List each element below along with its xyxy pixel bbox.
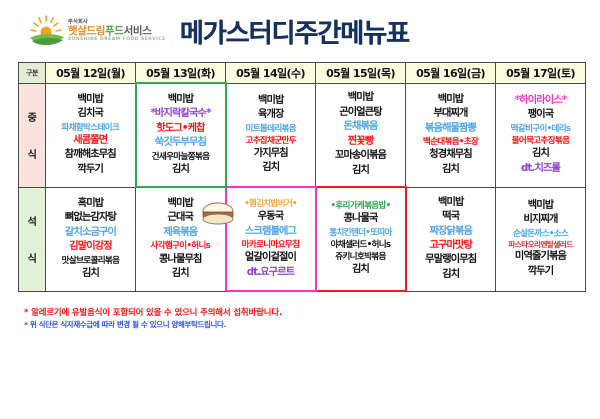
- row-label-bottom: 식: [19, 250, 45, 265]
- dish-item: 가지무침: [254, 147, 288, 161]
- dish-list: 백미밥육개장미트볼데리볶음고추잡채군만두가지무침김치: [227, 84, 316, 187]
- row-label-top: 석: [19, 213, 45, 228]
- dish-item: 비지찌개: [523, 213, 557, 227]
- dish-item: 뼈없는감자탕: [65, 211, 116, 225]
- dish-item: 백미밥: [258, 94, 284, 108]
- dish-item: 떡국: [442, 210, 459, 224]
- dish-item: 깍두기: [77, 163, 103, 177]
- dish-item: 김치: [262, 161, 279, 175]
- dish-item: 갈치소금구이: [65, 226, 116, 240]
- dish-item: 팽이국: [528, 108, 554, 122]
- logo-name-part2: 푸드: [105, 25, 124, 37]
- menu-row-석식: 석식흑미밥뼈없는감자탕갈치소금구이김말이강정맛살브로콜리볶음김치백미밥근대국제육…: [19, 187, 586, 291]
- dish-item: 참깨해초무침: [65, 148, 116, 162]
- dish-item: 미트볼데리볶음: [246, 123, 296, 135]
- dish-item: 건새우마늘쫑볶음: [152, 151, 210, 163]
- menu-cell-석식-4: 백미밥떡국짜장닭볶음고구마맛탕무말랭이무침김치: [406, 187, 496, 291]
- sunrise-leaf-icon: [28, 14, 68, 48]
- dish-item: 사각햄구이•허니s: [150, 240, 210, 252]
- dish-item: 돈채볶음: [343, 120, 377, 134]
- dish-item: 김치: [442, 268, 459, 282]
- column-header-date-1: 05월 13일(화): [136, 63, 226, 84]
- menu-cell-중식-0: 백미밥김치국파채함박스테이크새콤쫄면참깨해초무침깍두기: [46, 83, 136, 187]
- dish-item: 순살돈까스•소스: [513, 228, 568, 240]
- dish-list: 백미밥비지찌개순살돈까스•소스파스타오리엔탈샐러드미역줄기볶음깍두기: [496, 188, 585, 291]
- dish-item: 쥬키니호박볶음: [335, 251, 385, 263]
- dish-item: 미역줄기볶음: [515, 250, 566, 264]
- dish-item: 맛살브로콜리볶음: [62, 255, 120, 267]
- dish-item: *하이라이스*: [515, 94, 567, 108]
- dish-item: 김치국: [77, 107, 103, 121]
- logo-name-part3: 서비스: [124, 25, 152, 37]
- logo-company-english: SUNSHINE DREAM FOOD SERVICE: [68, 38, 166, 42]
- dish-item: •후리가케볶음밥•: [330, 200, 390, 212]
- menu-cell-석식-5: 백미밥비지찌개순살돈까스•소스파스타오리엔탈샐러드미역줄기볶음깍두기: [496, 187, 586, 291]
- dish-item: 김치: [532, 147, 549, 161]
- company-logo: 주식회사 햇살드림푸드서비스 SUNSHINE DREAM FOOD SERVI…: [28, 14, 166, 48]
- dish-list: 흑미밥뼈없는감자탕갈치소금구이김말이강정맛살브로콜리볶음김치: [46, 188, 135, 291]
- dish-item: 백미밥: [77, 93, 103, 107]
- dish-item: 찐꽃빵: [348, 135, 374, 149]
- dish-item: 야채샐러드•허니s: [331, 239, 391, 251]
- column-header-date-5: 05월 17일(토): [496, 63, 586, 84]
- dish-item: 부대찌개: [433, 107, 467, 121]
- dish-item: 제육볶음: [163, 226, 197, 240]
- column-header-date-4: 05월 16일(금): [406, 63, 496, 84]
- dish-item: 김치: [352, 164, 369, 178]
- dish-list: 백미밥근대국제육볶음사각햄구이•허니s콩나물무침김치: [136, 188, 225, 291]
- dish-item: 백미밥: [348, 91, 374, 105]
- dish-list: •햄김치밥버거•우동국스크램블에그마카로니마요무침얼갈이겉절이dt.요구르트: [227, 188, 315, 290]
- menu-table-body: 중식백미밥김치국파채함박스테이크새콤쫄면참깨해초무침깍두기백미밥*바지락칼국수*…: [19, 83, 586, 291]
- dish-item: 깍두기: [528, 265, 554, 279]
- dish-item: 새콤쫄면: [73, 134, 107, 148]
- dish-list: 백미밥곤이얼큰탕돈채볶음찐꽃빵꼬마송이볶음김치: [316, 84, 405, 187]
- note-menu-change: * 위 식단은 식자재수급에 따라 변경 될 수 있으니 양해부탁드립니다.: [24, 319, 600, 331]
- logo-wordmark: 주식회사 햇살드림푸드서비스 SUNSHINE DREAM FOOD SERVI…: [68, 20, 166, 43]
- dish-item: 흑미밥: [78, 197, 104, 211]
- dish-item: 파스타오리엔탈샐러드: [508, 240, 572, 251]
- page-title: 메가스터디주간메뉴표: [180, 13, 409, 50]
- dish-list: •후리가케볶음밥•콩나물국통치킨텐더•또띠아야채샐러드•허니s쥬키니호박볶음김치: [317, 188, 405, 290]
- dish-list: 백미밥*바지락칼국수*핫도그•케찹쑥갓두부무침건새우마늘쫑볶음김치: [137, 84, 225, 186]
- menu-cell-중식-1: 백미밥*바지락칼국수*핫도그•케찹쑥갓두부무침건새우마늘쫑볶음김치: [136, 83, 226, 187]
- dish-item: •햄김치밥버거•: [244, 198, 297, 210]
- dish-item: 청경채무침: [429, 148, 472, 162]
- dish-item: 육개장: [258, 108, 284, 122]
- row-label-중식: 중식: [19, 83, 46, 187]
- page-header: 주식회사 햇살드림푸드서비스 SUNSHINE DREAM FOOD SERVI…: [0, 0, 600, 62]
- row-label-top: 중: [19, 109, 45, 124]
- note-allergy: * 알레르기에 유발음식이 포함되어 있을 수 있으니 주의해서 섭취바랍니다.: [24, 306, 600, 319]
- dish-item: dt.치즈롤: [521, 162, 560, 176]
- dish-item: 근대국: [167, 211, 193, 225]
- table-header-row: 구분 05월 12일(월) 05월 13일(화) 05월 14일(수) 05월 …: [19, 63, 586, 84]
- dish-item: 김치: [442, 163, 459, 177]
- dish-item: 백순대볶음•초장: [423, 136, 478, 148]
- dish-item: 김치: [82, 267, 99, 281]
- dish-item: 고추잡채군만두: [246, 135, 296, 147]
- logo-company-name: 햇살드림푸드서비스: [68, 26, 166, 37]
- dish-item: 꼬마송이볶음: [335, 149, 386, 163]
- menu-table-container: 구분 05월 12일(월) 05월 13일(화) 05월 14일(수) 05월 …: [0, 62, 600, 292]
- column-header-date-2: 05월 14일(수): [226, 63, 316, 84]
- dish-item: dt.요구르트: [247, 266, 295, 280]
- dish-item: 백미밥: [528, 199, 554, 213]
- dish-item: 볶음해물짬뽕: [425, 122, 476, 136]
- menu-cell-석식-2: •햄김치밥버거•우동국스크램블에그마카로니마요무침얼갈이겉절이dt.요구르트: [226, 187, 316, 291]
- dish-item: 스크램블에그: [245, 225, 296, 239]
- dish-item: 김치: [172, 267, 189, 281]
- dish-item: 백미밥: [168, 93, 194, 107]
- dish-item: 파채함박스테이크: [61, 122, 119, 134]
- weekly-menu-table: 구분 05월 12일(월) 05월 13일(화) 05월 14일(수) 05월 …: [18, 62, 586, 292]
- dish-item: 우동국: [258, 210, 284, 224]
- dish-item: 고구마맛탕: [429, 239, 472, 253]
- menu-cell-석식-1: 백미밥근대국제육볶음사각햄구이•허니s콩나물무침김치: [136, 187, 226, 291]
- dish-item: 백미밥: [438, 93, 464, 107]
- menu-cell-중식-2: 백미밥육개장미트볼데리볶음고추잡채군만두가지무침김치: [226, 83, 316, 187]
- menu-cell-중식-5: *하이라이스*팽이국떡갈비구이•데리s불어묵고추장볶음김치dt.치즈롤: [496, 83, 586, 187]
- dish-item: 김치: [172, 163, 189, 177]
- column-header-date-0: 05월 12일(월): [46, 63, 136, 84]
- dish-item: 불어묵고추장볶음: [512, 135, 570, 147]
- footer-notes: * 알레르기에 유발음식이 포함되어 있을 수 있으니 주의해서 섭취바랍니다.…: [0, 292, 600, 331]
- menu-cell-중식-3: 백미밥곤이얼큰탕돈채볶음찐꽃빵꼬마송이볶음김치: [316, 83, 406, 187]
- dish-item: 얼갈이겉절이: [245, 251, 296, 265]
- dish-item: 콩나물무침: [159, 253, 202, 267]
- row-label-석식: 석식: [19, 187, 46, 291]
- logo-name-part1: 햇살드림: [68, 25, 105, 37]
- dish-item: 핫도그•케찹: [156, 122, 204, 136]
- dish-item: 떡갈비구이•데리s: [511, 123, 571, 135]
- dish-list: *하이라이스*팽이국떡갈비구이•데리s불어묵고추장볶음김치dt.치즈롤: [496, 84, 585, 187]
- dish-item: 백미밥: [438, 196, 464, 210]
- dish-list: 백미밥김치국파채함박스테이크새콤쫄면참깨해초무침깍두기: [46, 84, 135, 187]
- dish-item: *바지락칼국수*: [150, 107, 210, 121]
- row-label-bottom: 식: [19, 146, 45, 161]
- dish-item: 무말랭이무침: [425, 253, 476, 267]
- dish-item: 쑥갓두부무침: [155, 136, 206, 150]
- dish-item: 김말이강정: [69, 240, 112, 254]
- column-header-category: 구분: [19, 63, 46, 84]
- menu-cell-석식-3: •후리가케볶음밥•콩나물국통치킨텐더•또띠아야채샐러드•허니s쥬키니호박볶음김치: [316, 187, 406, 291]
- dish-item: 콩나물국: [343, 212, 377, 226]
- dish-item: 김치: [352, 263, 369, 277]
- column-header-date-3: 05월 15일(목): [316, 63, 406, 84]
- dish-item: 곤이얼큰탕: [339, 106, 382, 120]
- dish-item: 마카로니마요무침: [242, 239, 300, 251]
- menu-cell-석식-0: 흑미밥뼈없는감자탕갈치소금구이김말이강정맛살브로콜리볶음김치: [46, 187, 136, 291]
- dish-item: 백미밥: [167, 197, 193, 211]
- dish-item: 짜장닭볶음: [429, 225, 472, 239]
- menu-row-중식: 중식백미밥김치국파채함박스테이크새콤쫄면참깨해초무침깍두기백미밥*바지락칼국수*…: [19, 83, 586, 187]
- menu-cell-중식-4: 백미밥부대찌개볶음해물짬뽕백순대볶음•초장청경채무침김치: [406, 83, 496, 187]
- dish-list: 백미밥부대찌개볶음해물짬뽕백순대볶음•초장청경채무침김치: [406, 84, 495, 187]
- dish-list: 백미밥떡국짜장닭볶음고구마맛탕무말랭이무침김치: [407, 188, 496, 291]
- dish-item: 통치킨텐더•또띠아: [329, 227, 391, 239]
